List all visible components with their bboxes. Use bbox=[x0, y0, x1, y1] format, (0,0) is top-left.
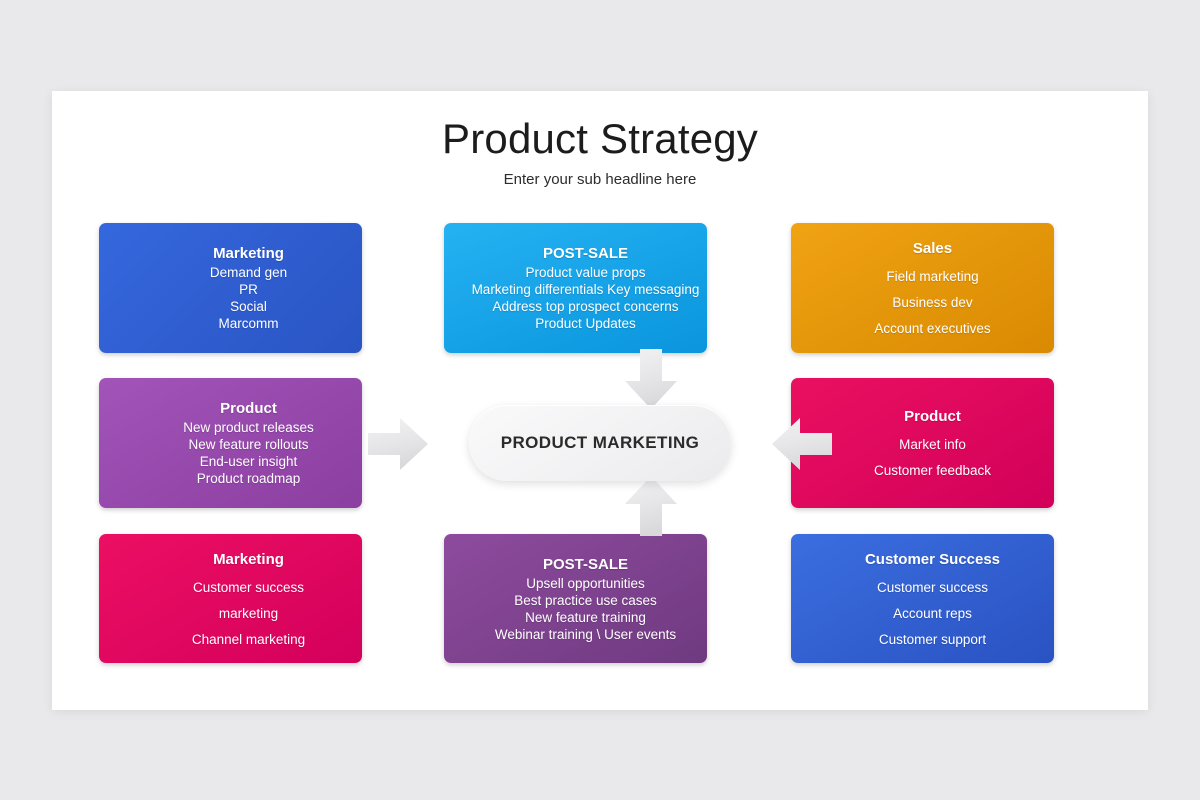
card-line: Channel marketing bbox=[192, 631, 305, 648]
card-line: New feature rollouts bbox=[188, 436, 308, 453]
hub-label: PRODUCT MARKETING bbox=[501, 433, 700, 453]
card-line: Business dev bbox=[892, 294, 972, 311]
card-line: Address top prospect concerns bbox=[492, 298, 678, 315]
card-line: Product value props bbox=[525, 264, 645, 281]
product-marketing-hub[interactable]: PRODUCT MARKETING bbox=[469, 405, 731, 481]
card-title: Customer Success bbox=[865, 550, 1000, 570]
card-line: Product Updates bbox=[535, 315, 636, 332]
card-line: Field marketing bbox=[886, 268, 978, 285]
card-line: Marcomm bbox=[219, 315, 279, 332]
card-sales-top-right[interactable]: Sales Field marketing Business dev Accou… bbox=[791, 223, 1054, 353]
card-marketing-top-left[interactable]: Marketing Demand gen PR Social Marcomm bbox=[99, 223, 362, 353]
card-post-sale-top[interactable]: POST-SALE Product value props Marketing … bbox=[444, 223, 707, 353]
card-line: Account executives bbox=[874, 320, 990, 337]
page-subtitle: Enter your sub headline here bbox=[52, 171, 1148, 188]
card-line: Best practice use cases bbox=[514, 592, 657, 609]
arrow-left-into-hub bbox=[772, 418, 832, 470]
card-title: Product bbox=[904, 407, 961, 427]
card-line: End-user insight bbox=[200, 453, 298, 470]
card-line: New product releases bbox=[183, 419, 314, 436]
page-title: Product Strategy bbox=[52, 115, 1148, 163]
card-line: Webinar training \ User events bbox=[495, 626, 676, 643]
card-marketing-bottom-left[interactable]: Marketing Customer success marketing Cha… bbox=[99, 534, 362, 663]
card-product-middle-left[interactable]: Product New product releases New feature… bbox=[99, 378, 362, 508]
card-post-sale-bottom[interactable]: POST-SALE Upsell opportunities Best prac… bbox=[444, 534, 707, 663]
card-title: Marketing bbox=[213, 550, 284, 570]
card-line: Marketing differentials Key messaging bbox=[472, 281, 700, 298]
slide-canvas: Product Strategy Enter your sub headline… bbox=[52, 91, 1148, 710]
card-line: Social bbox=[230, 298, 267, 315]
arrow-right-into-hub bbox=[368, 418, 428, 470]
card-line: marketing bbox=[219, 605, 278, 622]
card-line: Market info bbox=[899, 436, 966, 453]
card-title: POST-SALE bbox=[543, 244, 628, 264]
card-line: Upsell opportunities bbox=[526, 575, 645, 592]
card-line: Customer support bbox=[879, 631, 986, 648]
card-title: Marketing bbox=[213, 244, 284, 264]
arrow-up-into-hub bbox=[625, 476, 677, 536]
card-line: Demand gen bbox=[210, 264, 287, 281]
card-line: PR bbox=[239, 281, 258, 298]
arrow-down-into-hub bbox=[625, 349, 677, 409]
card-customer-success-bottom-right[interactable]: Customer Success Customer success Accoun… bbox=[791, 534, 1054, 663]
card-line: Product roadmap bbox=[197, 470, 301, 487]
card-line: Account reps bbox=[893, 605, 972, 622]
card-line: Customer success bbox=[877, 579, 988, 596]
card-title: Product bbox=[220, 399, 277, 419]
card-line: Customer success bbox=[193, 579, 304, 596]
card-line: Customer feedback bbox=[874, 462, 991, 479]
card-title: POST-SALE bbox=[543, 555, 628, 575]
card-line: New feature training bbox=[525, 609, 646, 626]
card-title: Sales bbox=[913, 239, 952, 259]
